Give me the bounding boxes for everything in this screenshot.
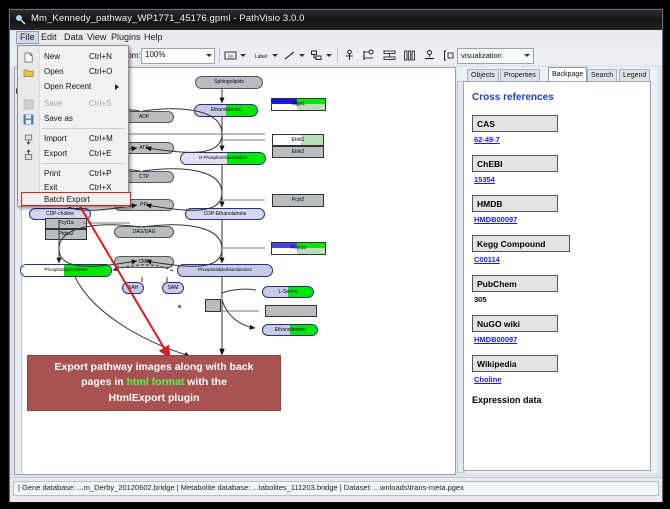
save-icon <box>23 99 34 110</box>
menu-item-save-as[interactable]: Save as <box>19 112 127 126</box>
chevron-down-icon <box>524 54 530 57</box>
xref-value-kegg[interactable]: C00114 <box>474 255 650 264</box>
pathway-node-cmp[interactable]: CMP <box>114 256 174 268</box>
xref-source-kegg: Kegg Compound <box>472 235 570 252</box>
menu-bar: File Edit Data View Plugins Help <box>10 30 662 46</box>
application-window: Mm_Kennedy_pathway_WP1771_45176.gpml - P… <box>9 9 663 502</box>
pathway-gene-etnk1[interactable]: Etnk1 <box>272 134 324 146</box>
pathway-node-phosphatidylcholines[interactable]: Phosphatidylcholines <box>20 264 112 277</box>
group-tool-icon[interactable] <box>442 48 457 63</box>
line-dropdown[interactable] <box>299 54 305 57</box>
pathway-gene-ptdss2[interactable] <box>265 305 317 317</box>
export-icon <box>23 149 34 160</box>
pathway-gene-pcyt1b[interactable]: Pcyt1a <box>45 218 87 229</box>
interaction-dropdown[interactable] <box>326 54 332 57</box>
menu-item-batch-export[interactable]: Batch Export <box>21 192 131 206</box>
svg-text:Gn: Gn <box>228 54 234 59</box>
pathway-node-cdp-ethanolamine[interactable]: CDP-Ethanolamine <box>185 208 265 220</box>
visualization-combo[interactable]: visualization <box>457 48 534 64</box>
menu-plugins[interactable]: Plugins <box>107 31 145 44</box>
xref-value-chebi[interactable]: 15354 <box>474 175 650 184</box>
annotation-callout: Export pathway images along with back pa… <box>27 355 281 411</box>
backpage-heading: Cross references <box>472 92 650 103</box>
panel-tabstrip: Objects Properties Backpage Search Legen… <box>463 67 657 81</box>
file-menu-dropdown[interactable]: New Ctrl+N Open Ctrl+O Open Recent Save … <box>17 45 129 207</box>
backpage-content: Cross references CAS 62-49-7 ChEBI 15354… <box>463 81 651 471</box>
xref-source-pubchem: PubChem <box>472 275 558 292</box>
import-icon <box>23 134 34 145</box>
pathway-anchor-shape[interactable] <box>205 299 221 312</box>
window-title: Mm_Kennedy_pathway_WP1771_45176.gpml - P… <box>31 13 305 24</box>
menu-item-open-recent[interactable]: Open Recent <box>19 80 127 94</box>
status-bar-inner: | Gene database: ...m_Derby_20120602.bri… <box>13 481 659 496</box>
xref-value-pubchem: 305 <box>474 295 650 304</box>
interaction-tool-icon[interactable] <box>309 48 324 63</box>
callout-line-1: Export pathway images along with back <box>55 361 254 373</box>
status-bar: | Gene database: ...m_Derby_20120602.bri… <box>10 477 662 502</box>
label-dropdown[interactable] <box>272 54 278 57</box>
xref-value-cas[interactable]: 62-49-7 <box>474 135 650 144</box>
tab-backpage[interactable]: Backpage <box>548 67 587 82</box>
pathway-node-sah[interactable]: SAH <box>122 282 144 294</box>
xref-value-wikipedia[interactable]: Choline <box>474 375 650 384</box>
callout-line-2a: pages in <box>81 376 127 388</box>
gene-product-tool-icon[interactable]: Gn <box>223 48 238 63</box>
pathway-gene-cept1[interactable]: Pcyt1b <box>271 242 326 255</box>
xref-value-nugo[interactable]: HMDB00097 <box>474 335 650 344</box>
pathway-node-phosphatidylethanolamines[interactable]: Phosphatidylethanolamines <box>177 264 273 277</box>
menu-edit[interactable]: Edit <box>37 31 61 44</box>
svg-text:Label: Label <box>255 54 267 60</box>
pathway-node-o-phosphoethanolamine[interactable]: O-Phosphoethanolamine <box>180 152 266 165</box>
pathway-gene-pcyt1a[interactable]: Ptdss2 <box>45 229 87 240</box>
xref-source-hmdb: HMDB <box>472 195 558 212</box>
gene-product-dropdown[interactable] <box>240 54 246 57</box>
zoom-combo[interactable]: 100% <box>141 48 215 64</box>
align-left-tool-icon[interactable] <box>362 48 377 63</box>
visualization-value: visualization <box>461 51 502 60</box>
pathway-node-l-serine[interactable]: L-Serine <box>262 286 314 298</box>
shape-tool-icon[interactable] <box>342 48 357 63</box>
menu-item-save: Save Ctrl+S <box>19 97 127 111</box>
menu-item-import[interactable]: Import Ctrl+M <box>19 132 127 146</box>
menu-help[interactable]: Help <box>140 31 167 44</box>
pathway-anchor-shape[interactable] <box>178 305 181 308</box>
line-tool-icon[interactable] <box>282 48 297 63</box>
xref-source-nugo: NuGO wiki <box>472 315 558 332</box>
xref-value-hmdb[interactable]: HMDB00097 <box>474 215 650 224</box>
new-file-icon <box>23 52 34 63</box>
chevron-down-icon <box>206 54 212 57</box>
menu-item-export[interactable]: Export Ctrl+E <box>19 147 127 161</box>
label-tool-icon[interactable]: Label <box>250 48 272 63</box>
menu-item-open[interactable]: Open Ctrl+O <box>19 65 127 79</box>
open-folder-icon <box>23 67 34 78</box>
callout-line-3: HtmlExport plugin <box>109 392 200 404</box>
menu-item-new[interactable]: New Ctrl+N <box>19 50 127 64</box>
submenu-arrow-icon <box>115 84 119 90</box>
pathway-node-ethanolamine[interactable]: Ethanolamine <box>194 104 258 117</box>
pathway-node-dag[interactable]: DAG/DAG <box>114 226 174 238</box>
menu-item-print[interactable]: Print Ctrl+P <box>19 167 127 181</box>
xref-source-chebi: ChEBI <box>472 155 558 172</box>
expression-data-heading: Expression data <box>472 395 650 405</box>
title-bar: Mm_Kennedy_pathway_WP1771_45176.gpml - P… <box>10 10 662 31</box>
screenshot-frame: Mm_Kennedy_pathway_WP1771_45176.gpml - P… <box>0 0 670 509</box>
pathway-node-ethanolamine-2[interactable]: Ethanolamine <box>262 324 318 336</box>
side-panel: Objects Properties Backpage Search Legen… <box>457 67 657 473</box>
pathway-node-sphingolipids[interactable]: Sphingolipids <box>195 76 263 89</box>
pathway-node-sam[interactable]: SAM <box>162 282 184 294</box>
save-as-icon <box>23 114 34 125</box>
stack-tool-icon[interactable] <box>402 48 417 63</box>
pathway-gene-pcyt2[interactable]: Pcyt2 <box>272 194 324 207</box>
xref-source-cas: CAS <box>472 115 558 132</box>
pathvisio-icon <box>15 14 27 26</box>
distribute-tool-icon[interactable] <box>382 48 397 63</box>
callout-line-2b: with the <box>184 376 227 388</box>
common-width-tool-icon[interactable] <box>422 48 437 63</box>
callout-highlight: html format <box>127 376 185 388</box>
zoom-value: 100% <box>145 50 165 59</box>
menu-file[interactable]: File <box>16 31 39 44</box>
pathway-gene-etnk2[interactable]: Etnk2 <box>272 146 324 158</box>
xref-source-wikipedia: Wikipedia <box>472 355 558 372</box>
pathway-gene-sgpl1[interactable]: Sgpl1 <box>271 98 326 111</box>
status-text: | Gene database: ...m_Derby_20120602.bri… <box>18 483 464 492</box>
